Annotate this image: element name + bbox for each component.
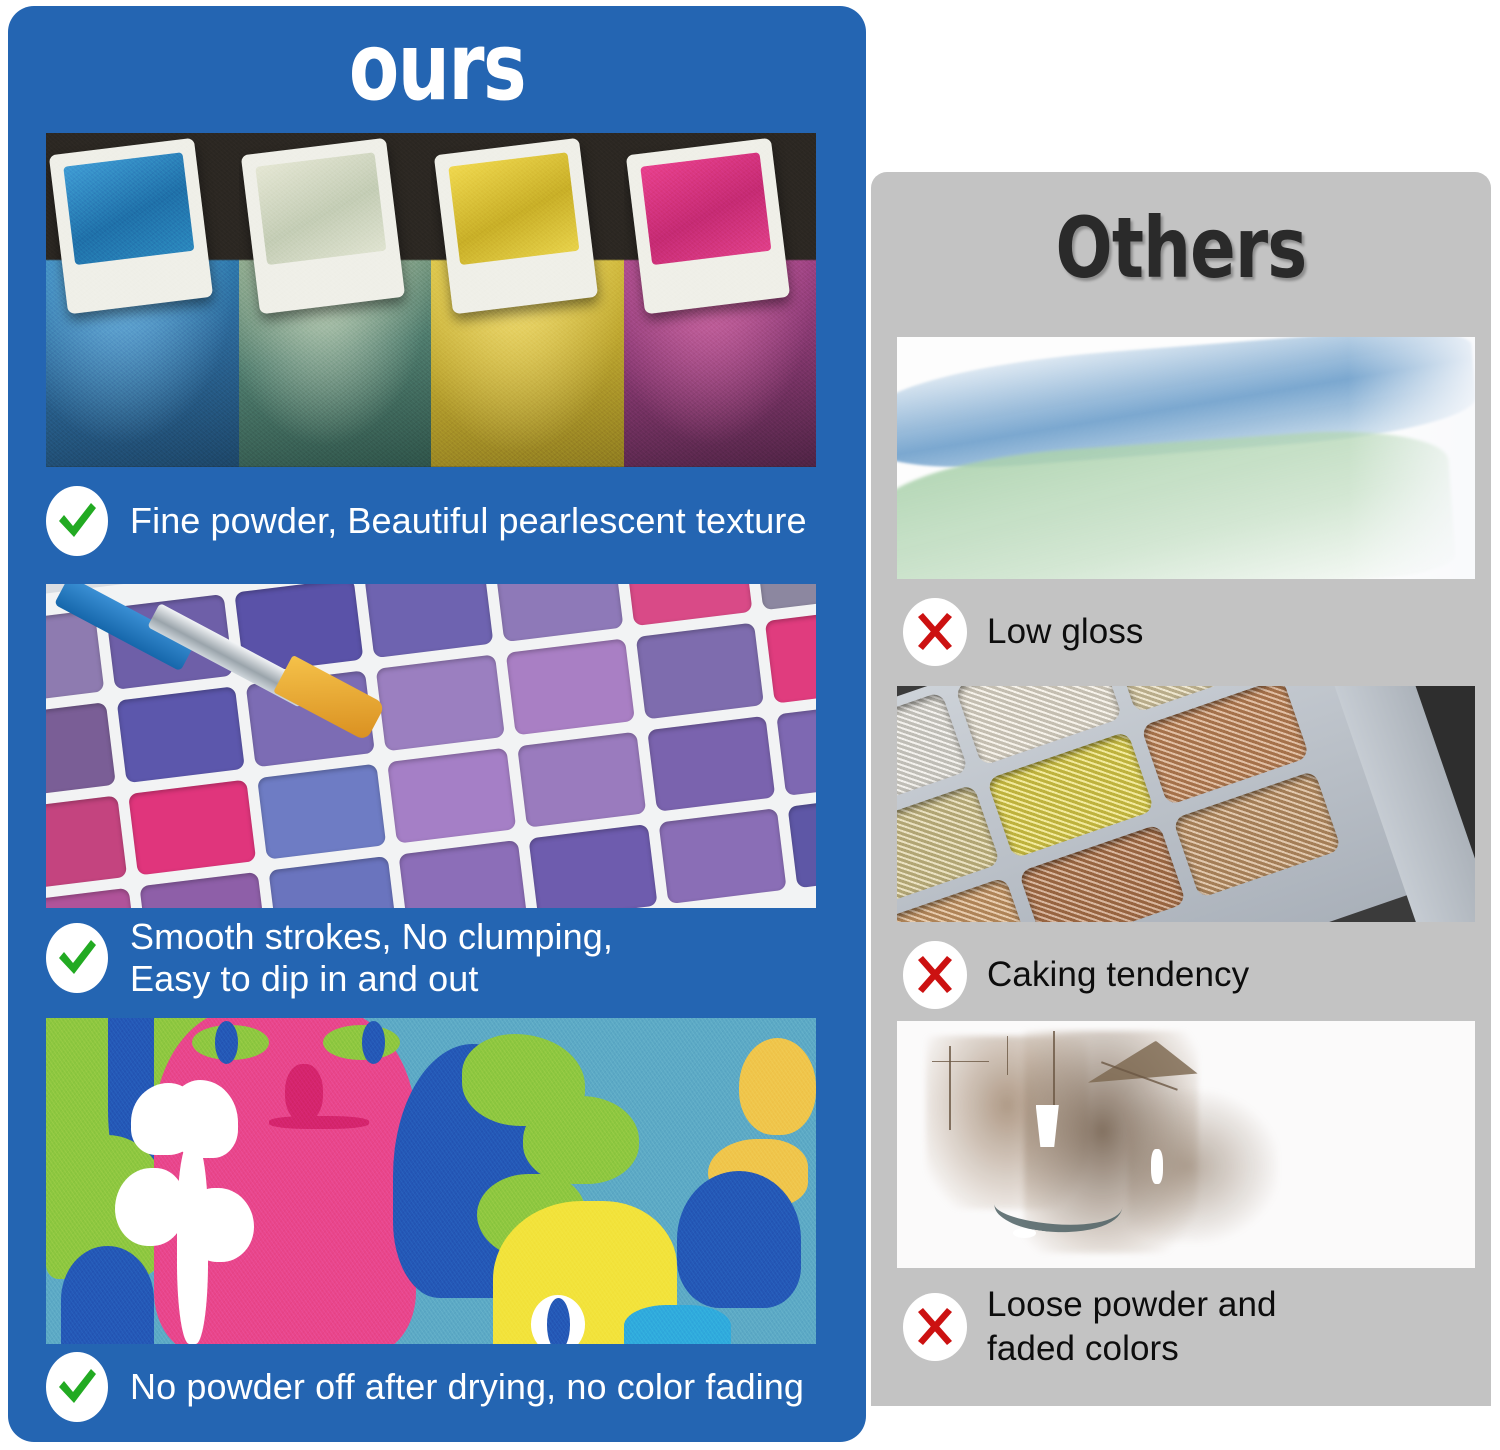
brush-bristles xyxy=(274,655,386,741)
palette-pan xyxy=(788,792,816,888)
pan-strip-silver-green xyxy=(239,133,432,467)
palette-pan xyxy=(777,700,816,796)
others-flaw-row: Low gloss xyxy=(903,598,1144,666)
palette-pan xyxy=(659,808,788,904)
ours-photo-palette-with-brush xyxy=(46,584,816,908)
palette-pan xyxy=(140,872,269,908)
ours-feature-row: No powder off after drying, no color fad… xyxy=(46,1352,804,1422)
palette-pan xyxy=(624,584,753,627)
ours-feature-row: Smooth strokes, No clumping, Easy to dip… xyxy=(46,916,613,1000)
red-x-icon xyxy=(903,598,967,666)
palette-pan xyxy=(399,840,528,908)
green-check-icon xyxy=(46,1352,108,1422)
red-x-icon xyxy=(903,941,967,1009)
others-flaw-text: Loose powder and faded colors xyxy=(987,1283,1277,1371)
palette-pan xyxy=(636,623,765,719)
others-flaw-row: Caking tendency xyxy=(903,941,1249,1009)
comparison-infographic: ours Fine powder, B xyxy=(0,0,1500,1450)
others-title: Others xyxy=(933,204,1429,292)
others-flaw-text: Low gloss xyxy=(987,610,1144,654)
others-flaw-text: Caking tendency xyxy=(987,953,1249,997)
pan-strip-pink xyxy=(624,133,817,467)
pan-strip-gold xyxy=(431,133,624,467)
ours-feature-text: Fine powder, Beautiful pearlescent textu… xyxy=(130,500,807,542)
green-check-icon xyxy=(46,486,108,556)
palette-pan xyxy=(269,856,398,908)
green-check-icon xyxy=(46,923,108,993)
others-photo-caked-metallic-tray xyxy=(897,686,1475,922)
ours-photo-finished-artwork xyxy=(46,1018,816,1344)
paint-brush xyxy=(69,584,546,817)
palette-pan xyxy=(754,584,816,611)
ours-feature-text: Smooth strokes, No clumping, Easy to dip… xyxy=(130,916,613,1000)
ours-title: ours xyxy=(102,20,771,116)
others-photo-faded-sepia-sketch xyxy=(897,1021,1475,1268)
artwork-canvas xyxy=(46,1018,816,1344)
others-photo-pale-watercolor-wash xyxy=(897,337,1475,579)
palette-pan xyxy=(529,824,658,908)
palette-pan xyxy=(766,607,816,703)
red-x-icon xyxy=(903,1293,967,1361)
pan-strip-blue xyxy=(46,133,239,467)
palette-pan xyxy=(46,888,139,908)
ours-photo-metallic-pans-strip xyxy=(46,133,816,467)
others-flaw-row: Loose powder and faded colors xyxy=(903,1283,1277,1371)
ours-feature-text: No powder off after drying, no color fad… xyxy=(130,1366,804,1408)
ours-feature-row: Fine powder, Beautiful pearlescent textu… xyxy=(46,486,807,556)
palette-pan xyxy=(647,716,776,812)
